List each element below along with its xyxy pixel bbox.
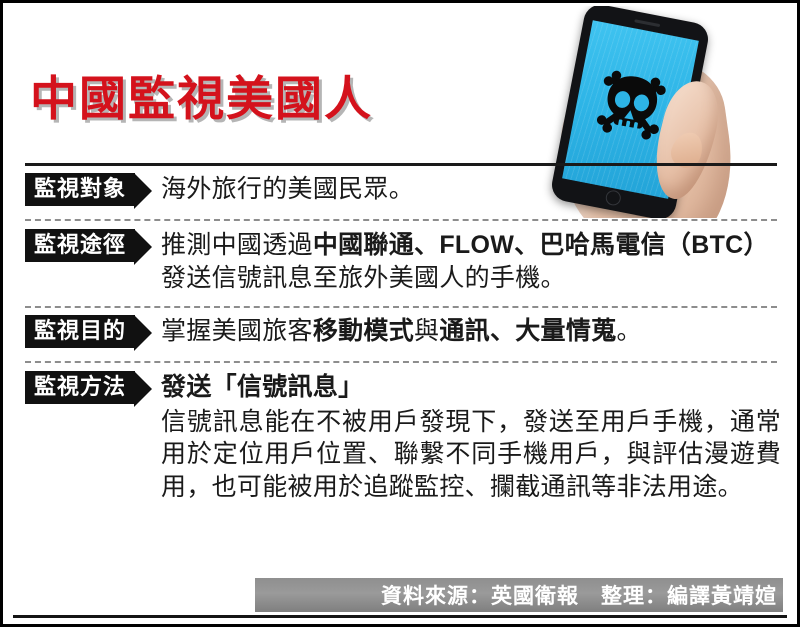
- row-surveillance-channel: 監視途徑 推測中國透過中國聯通、FLOW、巴哈馬電信（BTC）發送信號訊息至旅外…: [25, 229, 781, 294]
- row-body-surveillance-purpose: 掌握美國旅客移動模式與通訊、大量情蒐。: [161, 315, 781, 348]
- divider-dotted-3: [25, 361, 777, 363]
- row2-text-bold: 中國聯通、FLOW、巴哈馬電信（BTC）: [313, 231, 769, 259]
- row-tag-surveillance-target: 監視對象: [25, 173, 135, 206]
- footer-source-bar: 資料來源：英國衛報 整理：編譯黃靖媗: [255, 578, 783, 612]
- row2-text-pre: 推測中國透過: [161, 231, 313, 259]
- row2-text-post: 發送信號訊息至旅外美國人的手機。: [161, 264, 566, 292]
- row-body-surveillance-method: 發送「信號訊息」 信號訊息能在不被用戶發現下，發送至用戶手機，通常用於定位用戶位…: [161, 371, 781, 503]
- row-tag-surveillance-channel: 監視途徑: [25, 229, 135, 262]
- row-body-surveillance-channel: 推測中國透過中國聯通、FLOW、巴哈馬電信（BTC）發送信號訊息至旅外美國人的手…: [161, 229, 781, 294]
- row3-text-pre: 掌握美國旅客: [161, 317, 313, 345]
- row1-text: 海外旅行的美國民眾。: [161, 175, 414, 203]
- footer-bottom-rule: [13, 615, 787, 618]
- row3-text-bold2: 通訊、大量情蒐: [439, 317, 616, 345]
- row-surveillance-target: 監視對象 海外旅行的美國民眾。: [25, 173, 781, 206]
- footer-source-text: 資料來源：英國衛報 整理：編譯黃靖媗: [381, 580, 777, 610]
- divider-dotted-2: [25, 306, 777, 308]
- row3-text-bold: 移動模式: [313, 317, 414, 345]
- divider-solid-top: [25, 163, 777, 166]
- row4-heading: 發送「信號訊息」: [161, 371, 781, 404]
- page-title: 中國監視美國人: [30, 75, 373, 122]
- row-body-surveillance-target: 海外旅行的美國民眾。: [161, 173, 781, 206]
- row-surveillance-purpose: 監視目的 掌握美國旅客移動模式與通訊、大量情蒐。: [25, 315, 781, 348]
- row-tag-surveillance-purpose: 監視目的: [25, 315, 135, 348]
- row3-text-post: 。: [616, 317, 641, 345]
- phone-speaker-icon: [634, 19, 660, 27]
- row-surveillance-method: 監視方法 發送「信號訊息」 信號訊息能在不被用戶發現下，發送至用戶手機，通常用於…: [25, 371, 781, 503]
- row4-paragraph: 信號訊息能在不被用戶發現下，發送至用戶手機，通常用於定位用戶位置、聯繫不同手機用…: [161, 406, 781, 504]
- row-tag-surveillance-method: 監視方法: [25, 371, 135, 404]
- divider-dotted-1: [25, 219, 777, 221]
- infographic-root: 中國監視美國人 監視對象 海外旅行的美國民眾。 監視途徑 推測中國透過中國聯通、…: [0, 0, 800, 627]
- row3-text-mid: 與: [414, 317, 439, 345]
